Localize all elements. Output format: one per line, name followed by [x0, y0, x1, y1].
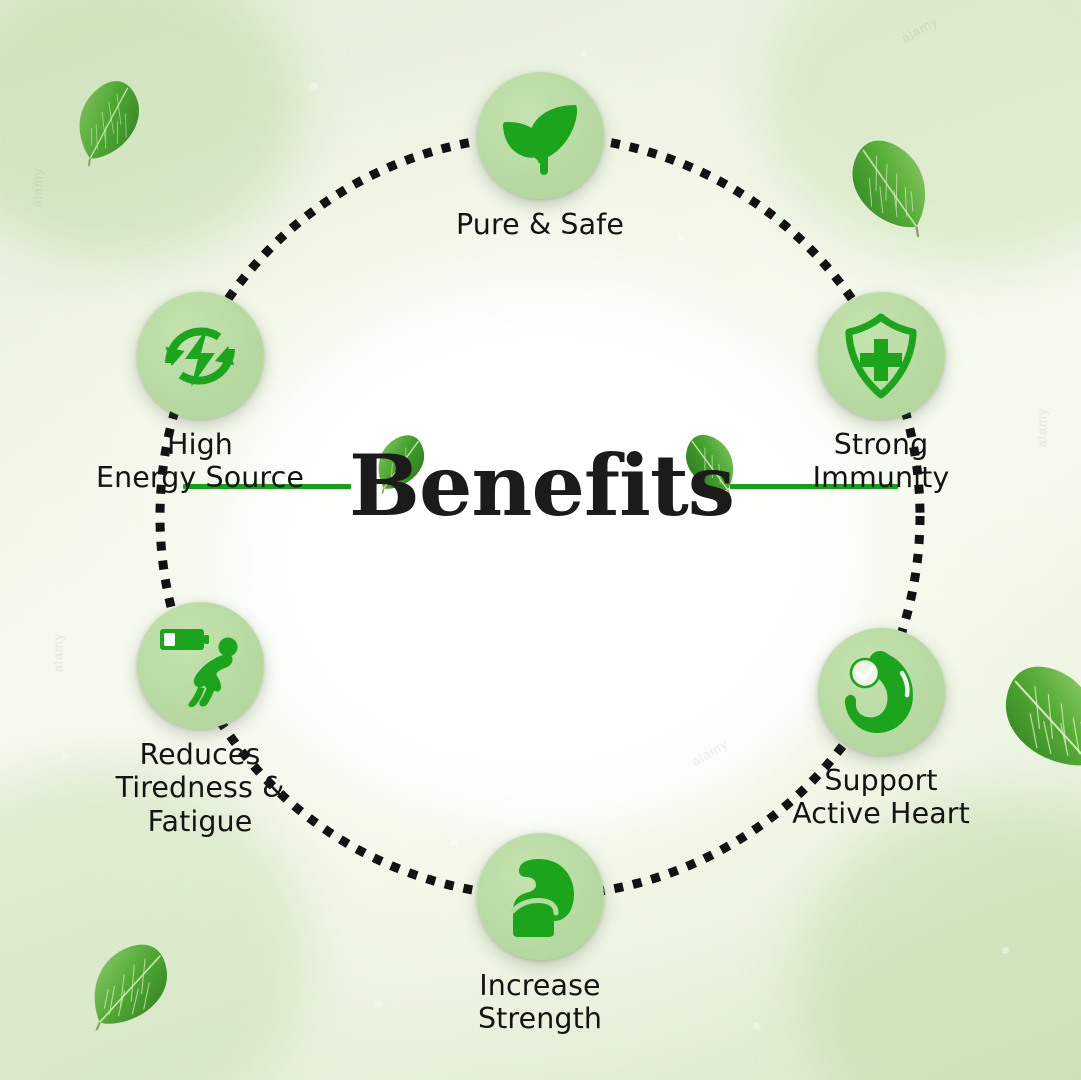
benefit-bubble	[477, 72, 604, 199]
recycle-lightning-icon	[155, 311, 245, 401]
shield-cross-icon	[841, 312, 921, 400]
benefit-bubble	[137, 602, 264, 729]
benefit-label: Pure & Safe	[420, 208, 660, 241]
benefit-node-high-energy-source[interactable]: High Energy Source	[80, 292, 320, 495]
benefit-label: Support Active Heart	[761, 764, 1001, 831]
benefit-node-pure-and-safe[interactable]: Pure & Safe	[420, 72, 660, 241]
benefit-label: Increase Strength	[420, 969, 660, 1036]
benefit-node-support-active-heart[interactable]: Support Active Heart	[761, 628, 1001, 831]
benefit-node-strong-immunity[interactable]: Strong Immunity	[761, 292, 1001, 495]
stomach-check-icon	[839, 647, 923, 737]
benefit-node-reduces-tiredness-and-fatigue[interactable]: Reduces Tiredness & Fatigue	[80, 602, 320, 838]
benefit-bubble	[818, 292, 945, 419]
page-title: Benefits	[347, 444, 736, 528]
benefit-node-increase-strength[interactable]: Increase Strength	[420, 833, 660, 1036]
benefit-label: High Energy Source	[80, 428, 320, 495]
benefit-bubble	[818, 628, 945, 755]
tired-person-low-battery-icon	[154, 623, 246, 709]
infographic-canvas: alamy alamy alamy alamy alamy alamy	[0, 0, 1081, 1080]
benefit-bubble	[477, 833, 604, 960]
benefit-bubble	[137, 292, 264, 419]
two-leaves-icon	[498, 97, 582, 175]
flexed-bicep-icon	[496, 855, 584, 939]
benefit-label: Strong Immunity	[761, 428, 1001, 495]
benefit-label: Reduces Tiredness & Fatigue	[80, 738, 320, 838]
